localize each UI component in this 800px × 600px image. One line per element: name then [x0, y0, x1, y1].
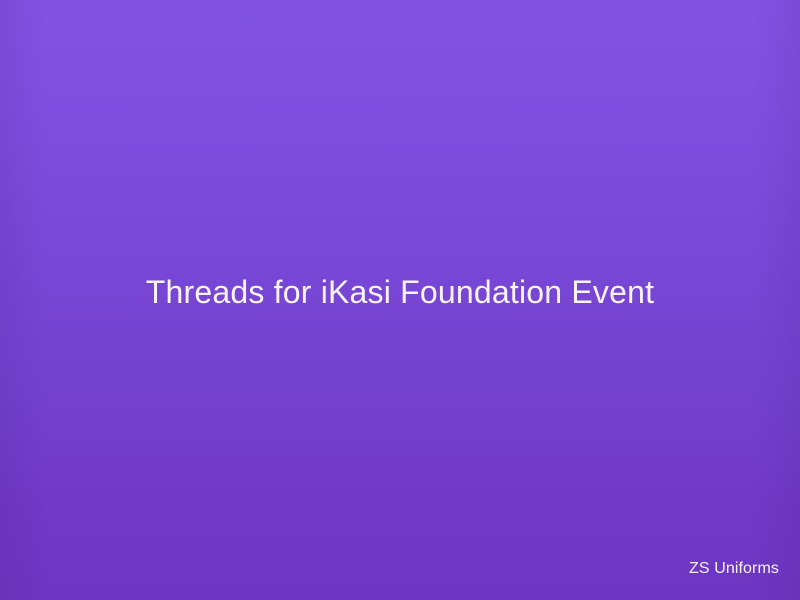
brand-footer-label: ZS Uniforms [689, 559, 779, 579]
slide-title: Threads for iKasi Foundation Event [60, 272, 740, 312]
title-block: Threads for iKasi Foundation Event [0, 272, 800, 312]
footer-block: ZS Uniforms [689, 559, 779, 579]
presentation-slide: Threads for iKasi Foundation Event ZS Un… [0, 0, 800, 600]
slide-content: Threads for iKasi Foundation Event ZS Un… [0, 0, 800, 600]
